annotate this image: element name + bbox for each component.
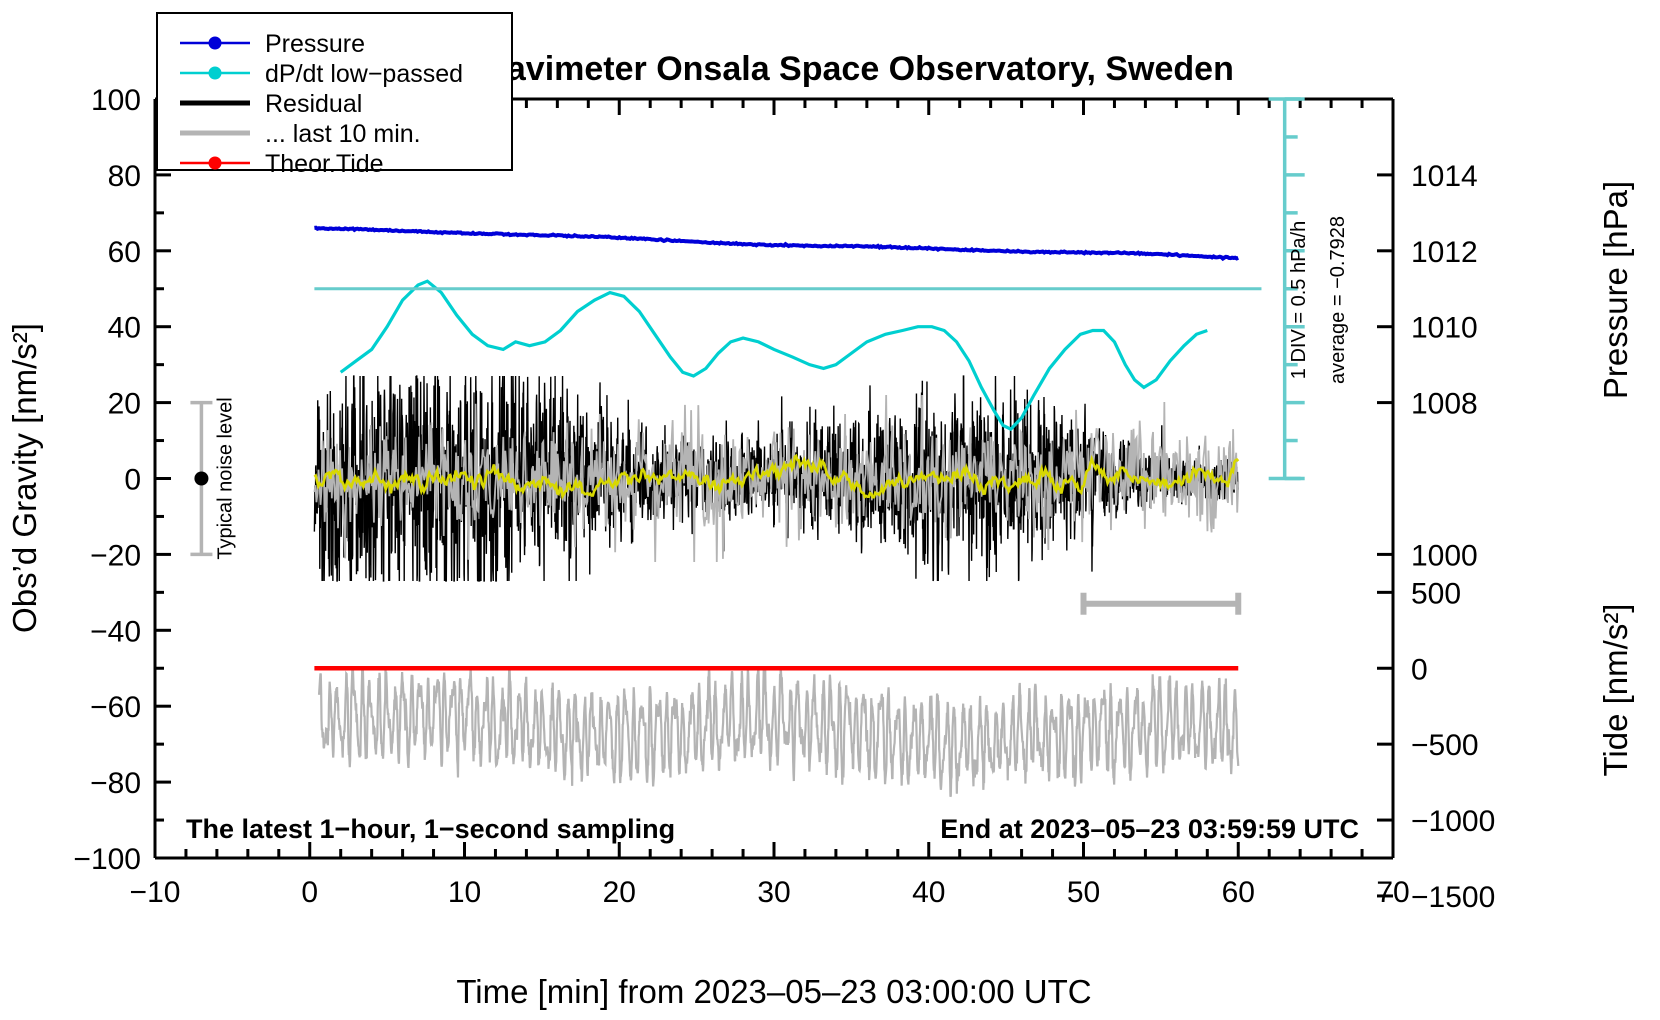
legend-label[interactable]: Theor.Tide (265, 150, 384, 178)
y-tick-label-right-tide: −500 (1411, 729, 1479, 762)
y-tick-label-left: 100 (91, 84, 141, 117)
div-average-label: average = −0.7928 (1327, 216, 1349, 384)
y-tick-label-left: 60 (108, 236, 141, 269)
legend-label[interactable]: dP/dt low−passed (265, 60, 463, 88)
y-tick-label-right-tide: 0 (1411, 653, 1428, 686)
bottom-right-note: End at 2023–05–23 03:59:59 UTC (940, 814, 1359, 844)
y-tick-label-left: −100 (73, 843, 141, 876)
y-tick-label-left: 40 (108, 312, 141, 345)
x-axis-title: Time [min] from 2023–05–23 03:00:00 UTC (456, 973, 1091, 1010)
x-tick-label: 20 (603, 876, 636, 909)
y-axis-right-tide-title: Tide [nm/s²] (1597, 604, 1634, 777)
legend-label[interactable]: ... last 10 min. (265, 120, 421, 148)
y-tick-label-right-pressure: 1010 (1411, 312, 1478, 345)
y-tick-label-right-pressure: 1014 (1411, 160, 1478, 193)
y-tick-label-left: −20 (90, 539, 141, 572)
y-axis-right-pressure-title: Pressure [hPa] (1597, 181, 1634, 399)
x-tick-label: 40 (912, 876, 945, 909)
legend-label[interactable]: Pressure (265, 30, 365, 58)
y-tick-label-left: −80 (90, 767, 141, 800)
y-tick-label-left: −40 (90, 615, 141, 648)
y-tick-label-right-pressure: 1012 (1411, 236, 1478, 269)
x-tick-label: −10 (130, 876, 181, 909)
legend-marker (209, 67, 222, 80)
legend-label[interactable]: Residual (265, 90, 362, 118)
x-tick-label: 50 (1067, 876, 1100, 909)
typical-noise-level-label: Typical noise level (214, 397, 236, 559)
x-tick-label: 30 (757, 876, 790, 909)
y-axis-left-title: Obs’d Gravity [nm/s²] (6, 323, 43, 633)
y-tick-label-left: 0 (124, 464, 141, 497)
x-tick-label: 70 (1376, 876, 1409, 909)
x-tick-label: 60 (1222, 876, 1255, 909)
x-tick-label: 10 (448, 876, 481, 909)
y-tick-label-left: 80 (108, 160, 141, 193)
legend-marker (209, 37, 222, 50)
y-tick-label-left: 20 (108, 388, 141, 421)
div-scale-label: 1 DIV = 0.5 hPa/h (1288, 221, 1310, 379)
y-tick-label-right-tide: −1500 (1411, 881, 1495, 914)
legend[interactable]: PressuredP/dt low−passedResidual... last… (157, 13, 512, 178)
legend-marker (209, 157, 222, 170)
y-tick-label-right-tide: 500 (1411, 577, 1461, 610)
gravimeter-plot-page: 100806040200−20−40−60−80−100 −1001020304… (0, 0, 1660, 1020)
y-tick-label-right-pressure: 1000 (1411, 539, 1478, 572)
y-tick-label-right-pressure: 1008 (1411, 388, 1478, 421)
bottom-left-note: The latest 1−hour, 1−second sampling (186, 814, 675, 844)
gravimeter-timeseries-chart: 100806040200−20−40−60−80−100 −1001020304… (0, 0, 1660, 1020)
y-tick-label-right-tide: −1000 (1411, 805, 1495, 838)
y-tick-label-left: −60 (90, 691, 141, 724)
x-tick-label: 0 (301, 876, 318, 909)
